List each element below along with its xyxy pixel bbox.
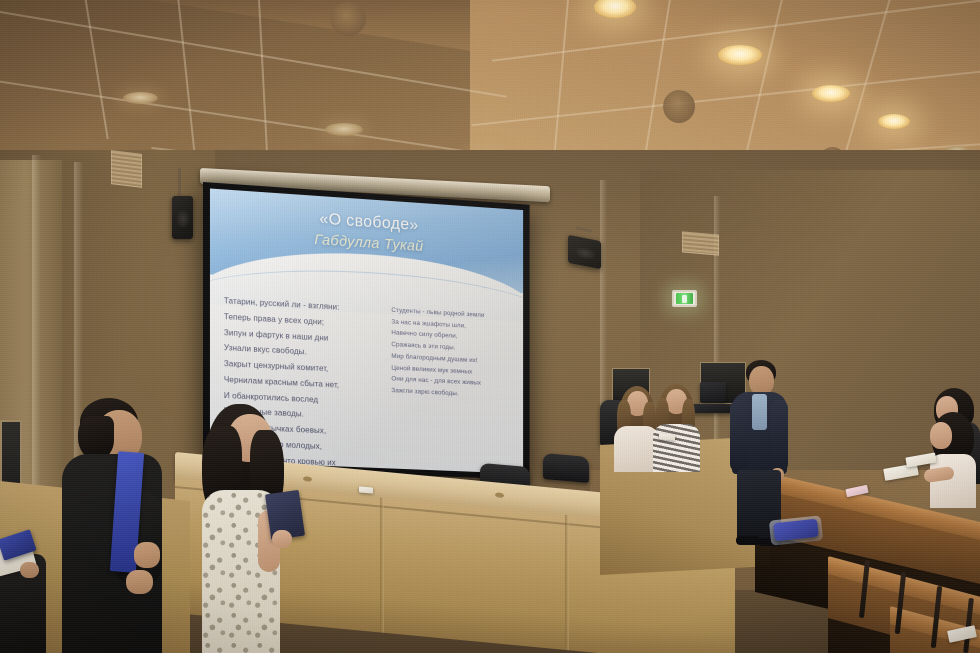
wall-speaker-icon bbox=[172, 196, 193, 239]
desk-panel-seam bbox=[565, 515, 569, 650]
recessed-downlight bbox=[123, 92, 158, 104]
lecture-hall-photo: «О свободе» Габдулла Тукай Татарин, русс… bbox=[0, 0, 980, 653]
ceiling-speaker-icon bbox=[663, 90, 695, 123]
presenter-partial-left bbox=[0, 520, 64, 653]
recessed-downlight bbox=[812, 85, 850, 102]
chair bbox=[543, 453, 589, 483]
papers bbox=[359, 486, 373, 493]
shoe bbox=[736, 536, 760, 545]
presenter-woman-left bbox=[192, 404, 310, 653]
desk-panel-seam bbox=[380, 497, 384, 632]
speaker-cone-icon bbox=[176, 210, 189, 227]
exit-sign-icon bbox=[672, 290, 697, 307]
papers bbox=[659, 433, 675, 440]
head bbox=[749, 366, 774, 395]
ventilation-grille-icon bbox=[111, 150, 142, 188]
speaker-cone-icon bbox=[574, 245, 594, 260]
dress-shirt bbox=[752, 394, 767, 430]
presenter-man-left bbox=[62, 396, 187, 653]
student-woman-2 bbox=[652, 384, 704, 472]
recessed-downlight bbox=[718, 45, 762, 65]
hand bbox=[126, 570, 153, 594]
hand bbox=[272, 530, 292, 548]
speaker-bracket bbox=[178, 168, 181, 198]
exit-sign-glyph bbox=[676, 293, 693, 304]
slide-right-column: Студенты - львы родной земли За нас на э… bbox=[391, 303, 515, 470]
hand bbox=[20, 562, 39, 578]
striped-top bbox=[653, 424, 700, 472]
arm bbox=[730, 400, 747, 472]
arm bbox=[771, 400, 788, 472]
recessed-downlight bbox=[878, 114, 910, 129]
ventilation-grille-icon bbox=[682, 231, 719, 255]
head bbox=[930, 422, 952, 449]
ceiling-speaker-icon bbox=[330, 2, 366, 36]
recessed-downlight bbox=[325, 123, 363, 136]
hand bbox=[134, 542, 160, 568]
presenter-man-suit bbox=[728, 360, 790, 545]
